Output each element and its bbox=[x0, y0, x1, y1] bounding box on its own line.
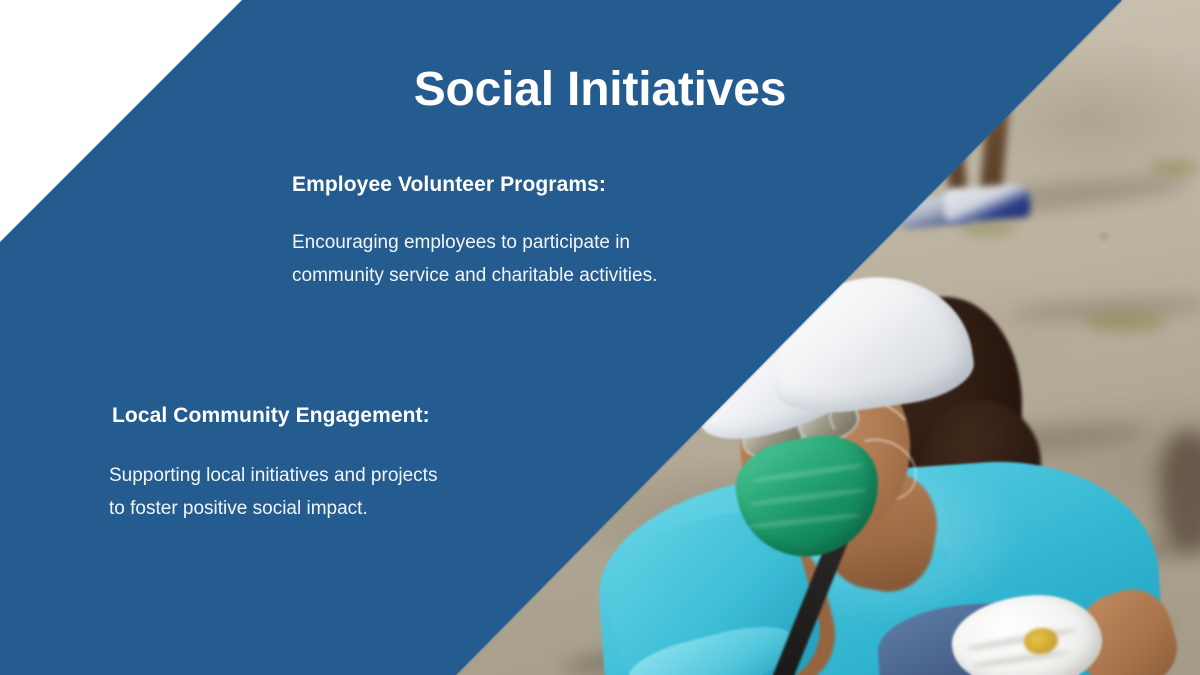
content-block-employee-volunteer-programs: Employee Volunteer Programs: Encouraging… bbox=[292, 171, 762, 292]
block-heading: Local Community Engagement: bbox=[112, 402, 582, 429]
slide-canvas: Social Initiatives Employee Volunteer Pr… bbox=[0, 0, 1200, 675]
slide-text-layer: Social Initiatives Employee Volunteer Pr… bbox=[0, 0, 1200, 675]
block-heading: Employee Volunteer Programs: bbox=[292, 171, 762, 198]
page-title: Social Initiatives bbox=[0, 62, 1200, 117]
block-body-line: Supporting local initiatives and project… bbox=[109, 459, 582, 492]
block-body-line: community service and charitable activit… bbox=[292, 259, 762, 292]
block-body: Supporting local initiatives and project… bbox=[109, 459, 582, 525]
block-body-line: to foster positive social impact. bbox=[109, 492, 582, 525]
content-block-local-community-engagement: Local Community Engagement: Supporting l… bbox=[112, 402, 582, 525]
block-body: Encouraging employees to participate in … bbox=[292, 226, 762, 292]
block-body-line: Encouraging employees to participate in bbox=[292, 226, 762, 259]
